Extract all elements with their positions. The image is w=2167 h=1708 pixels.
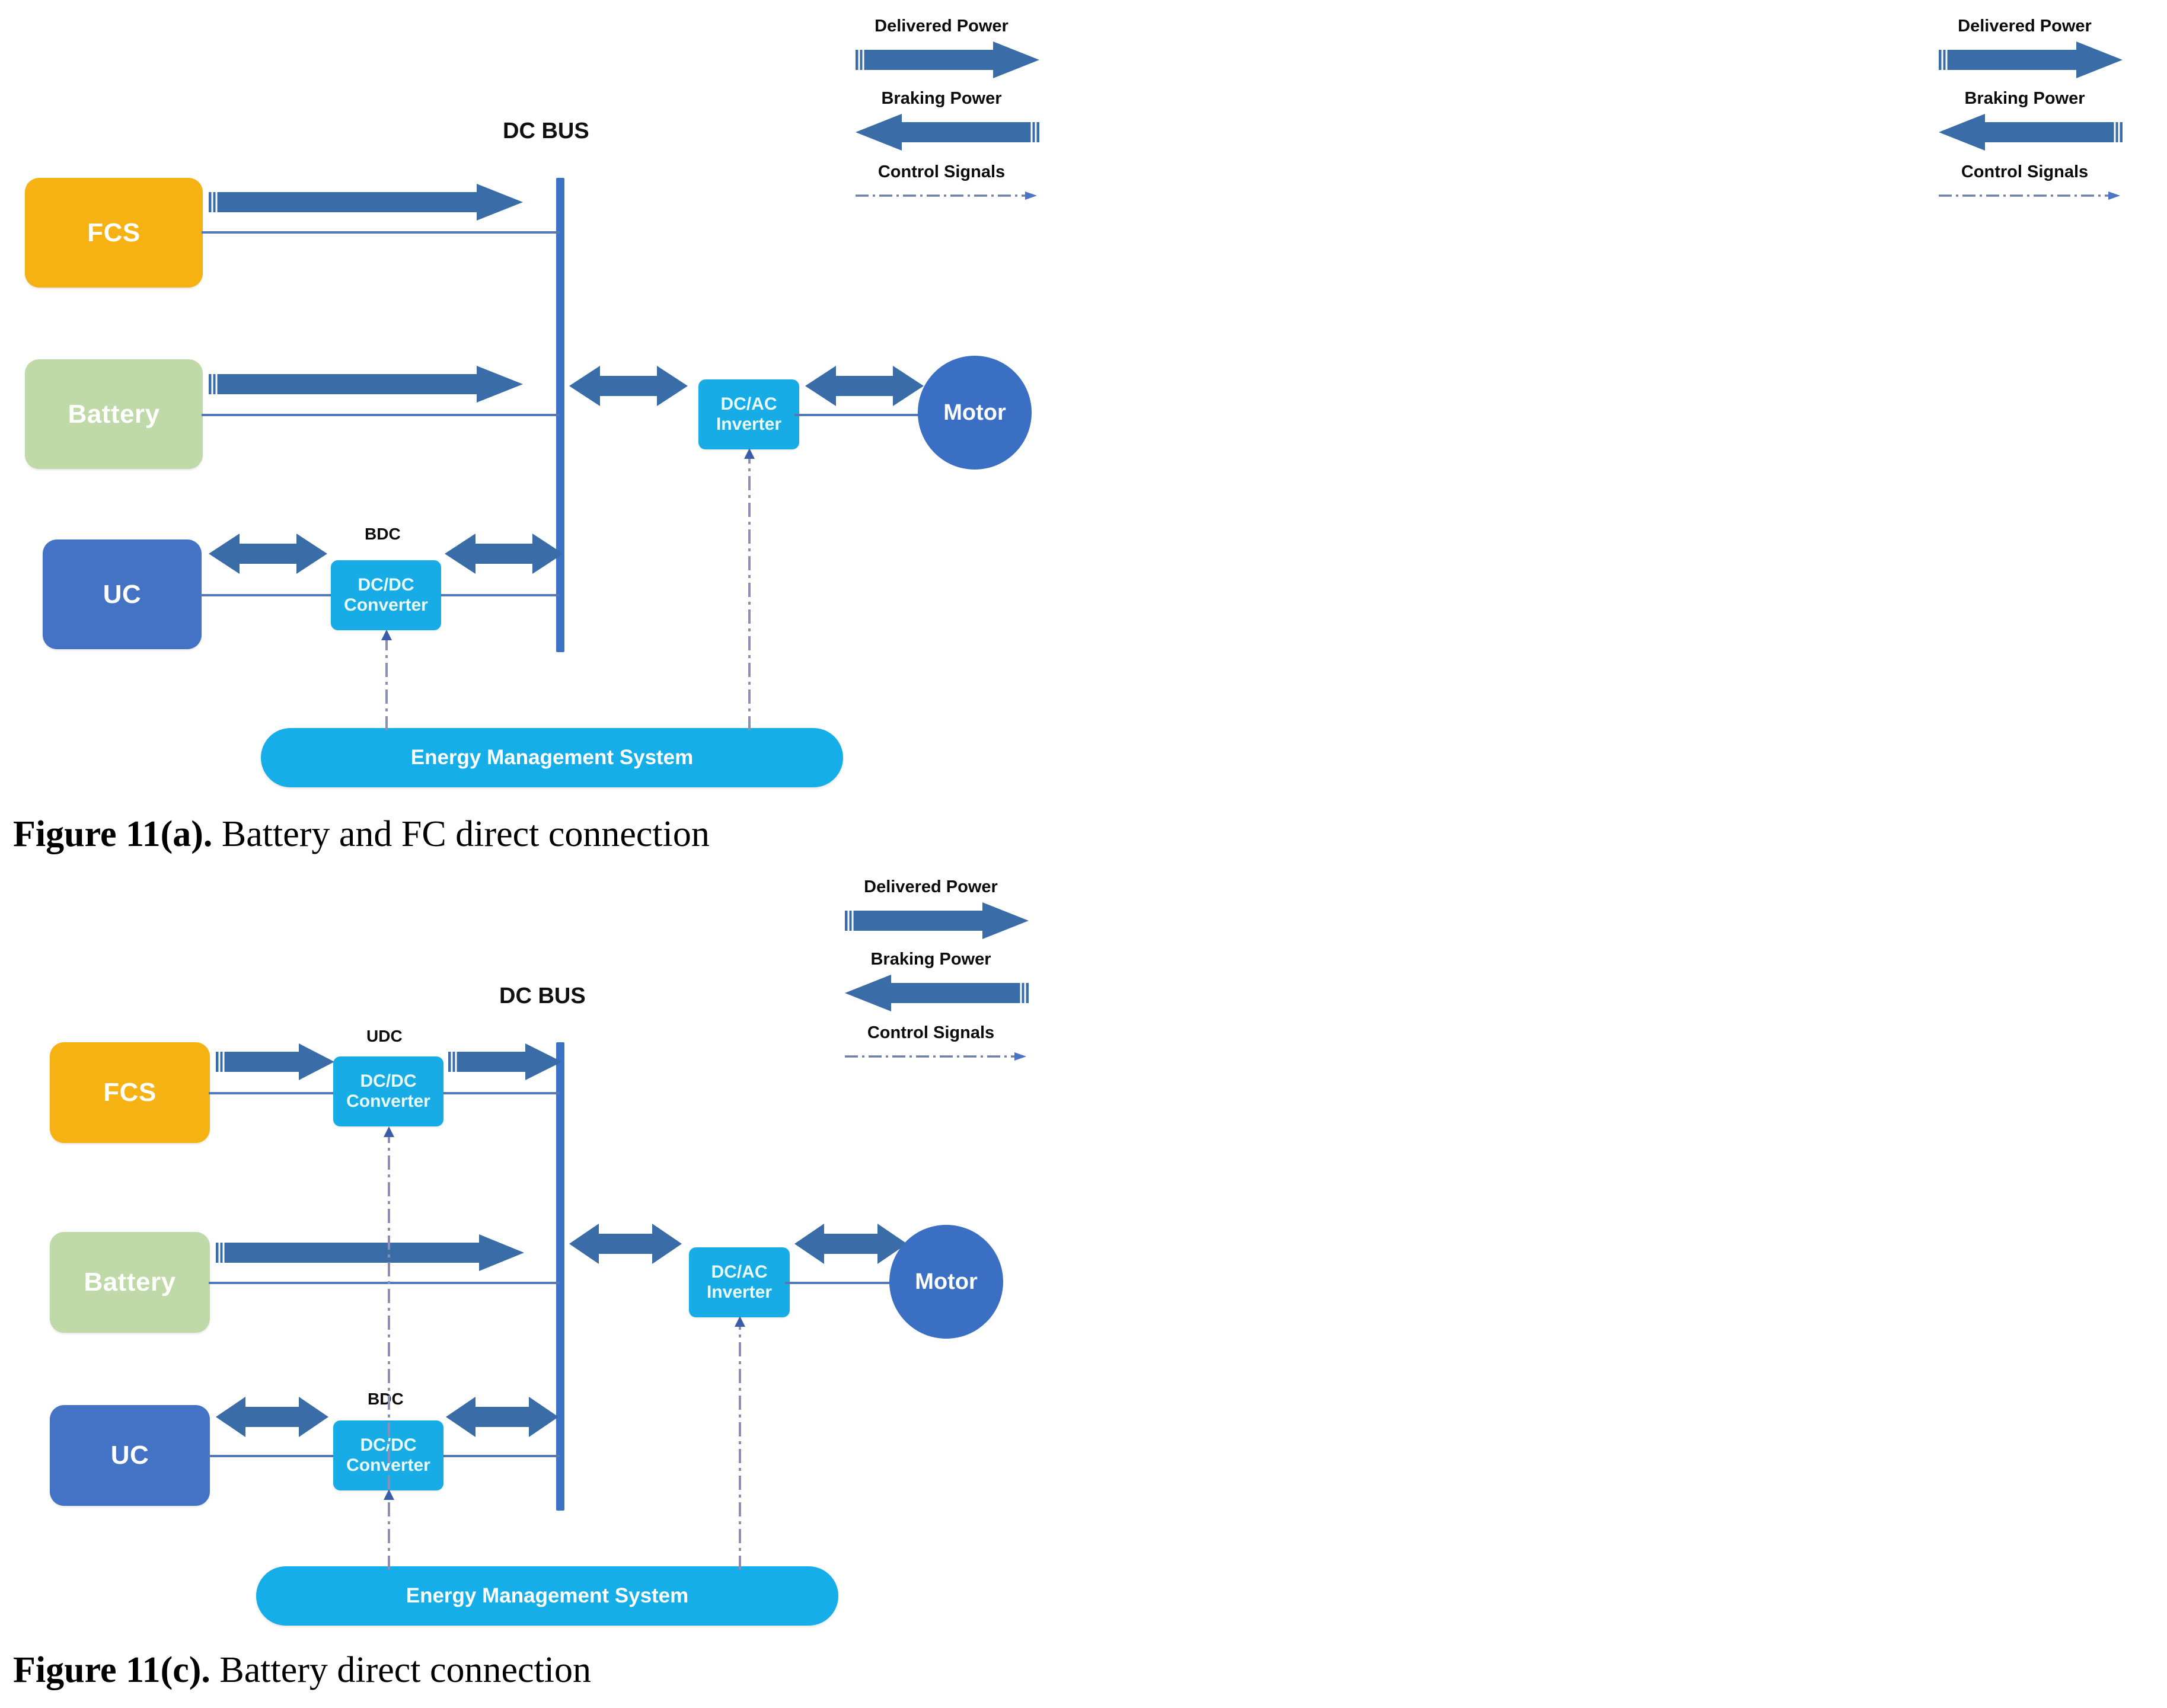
- motor-label-c: Motor: [915, 1269, 978, 1295]
- legend-delivered-power-label: Delivered Power: [841, 17, 1042, 36]
- legend-braking-power-arrow: [856, 114, 1039, 151]
- legend-control-signals-label: Control Signals: [841, 162, 1042, 182]
- legend-b: Delivered Power Braking Power Control Si…: [1924, 17, 2149, 212]
- legend-control-signals-label-c: Control Signals: [830, 1023, 1032, 1043]
- source-block-fcs-c[interactable]: FCS: [50, 1042, 210, 1143]
- control-signal-ems-to-converter-a: [374, 630, 400, 730]
- legend-delivered-power-arrow-c: [845, 902, 1029, 939]
- source-label-battery-c: Battery: [84, 1268, 175, 1297]
- converter-tag-udc-c: UDC: [366, 1027, 403, 1046]
- legend-c: Delivered Power Braking Power Control Si…: [830, 877, 1055, 1073]
- caption-c-prefix: Figure 11(c).: [13, 1650, 210, 1690]
- legend-delivered-power-label-b: Delivered Power: [1924, 17, 2125, 36]
- source-block-uc-c[interactable]: UC: [50, 1405, 210, 1506]
- inverter-dcac-a[interactable]: DC/AC Inverter: [698, 379, 799, 449]
- motor-label-a: Motor: [943, 400, 1006, 426]
- source-label-battery-a: Battery: [68, 400, 159, 429]
- source-block-battery-a[interactable]: Battery: [25, 359, 203, 469]
- wire-inverter-motor-c: [785, 1282, 898, 1284]
- control-signal-ems-to-inverter-c: [727, 1316, 753, 1570]
- legend-delivered-power-label-c: Delivered Power: [830, 877, 1032, 897]
- ems-a[interactable]: Energy Management System: [261, 728, 843, 787]
- converter-line1-c-fcs: DC/DC: [360, 1071, 417, 1091]
- converter-dcdc-fcs-c[interactable]: DC/DC Converter: [333, 1056, 443, 1126]
- inverter-line1-a: DC/AC: [721, 394, 777, 414]
- power-arrow-fcs-right-c: [448, 1043, 562, 1080]
- source-block-uc-a[interactable]: UC: [43, 539, 202, 649]
- power-arrow-uc-right-c: [446, 1397, 558, 1437]
- panel-a: Delivered Power Braking Power Control Si…: [0, 0, 1085, 830]
- converter-line2-c-fcs: Converter: [346, 1091, 430, 1112]
- source-block-battery-c[interactable]: Battery: [50, 1232, 210, 1333]
- legend-braking-power-label-b: Braking Power: [1924, 89, 2125, 108]
- legend-control-signals-line: [856, 190, 1039, 202]
- caption-c: Figure 11(c). Battery direct connection: [13, 1649, 591, 1691]
- legend-braking-power-label-c: Braking Power: [830, 950, 1032, 969]
- control-signal-ems-to-bdc-c: [376, 1489, 402, 1570]
- source-label-fcs-c: FCS: [103, 1078, 157, 1107]
- power-arrow-fcs-left-c: [216, 1043, 334, 1080]
- converter-line1-a-uc: DC/DC: [358, 575, 414, 595]
- converter-tag-bdc-a: BDC: [365, 525, 401, 544]
- converter-dcdc-uc-a[interactable]: DC/DC Converter: [331, 560, 441, 630]
- dc-bus-c: [556, 1042, 564, 1511]
- power-arrow-uc-right-a: [445, 534, 563, 574]
- wire-inverter-motor-a: [794, 414, 931, 416]
- legend-braking-power-label: Braking Power: [841, 89, 1042, 108]
- inverter-line2-a: Inverter: [716, 414, 781, 435]
- legend-control-signals-line-c: [845, 1051, 1029, 1062]
- legend-delivered-power-arrow-b: [1939, 41, 2123, 78]
- source-block-fcs-a[interactable]: FCS: [25, 178, 203, 288]
- caption-a-prefix: Figure 11(a).: [13, 814, 212, 854]
- bus-label-c: DC BUS: [493, 981, 592, 1011]
- bus-label-a: DC BUS: [497, 116, 595, 146]
- inverter-dcac-c[interactable]: DC/AC Inverter: [689, 1247, 790, 1317]
- power-arrow-battery-a: [209, 366, 523, 403]
- source-label-fcs-a: FCS: [87, 218, 141, 248]
- power-arrow-inverter-motor-c: [794, 1224, 907, 1264]
- legend-control-signals-line-b: [1939, 190, 2123, 202]
- inverter-line1-c: DC/AC: [711, 1262, 768, 1282]
- power-arrow-uc-left-c: [216, 1397, 328, 1437]
- converter-line2-a-uc: Converter: [344, 595, 428, 615]
- ems-label-c: Energy Management System: [406, 1584, 689, 1608]
- caption-a: Figure 11(a). Battery and FC direct conn…: [13, 813, 710, 855]
- panel-c: Delivered Power Braking Power Control Si…: [0, 866, 1085, 1707]
- ems-label-a: Energy Management System: [411, 746, 694, 770]
- power-arrow-battery-c: [216, 1234, 524, 1271]
- motor-a[interactable]: Motor: [918, 356, 1032, 470]
- power-arrow-uc-left-a: [209, 534, 327, 574]
- wire-fcs-bus-a: [202, 231, 560, 234]
- inverter-line2-c: Inverter: [707, 1282, 772, 1302]
- legend-braking-power-arrow-b: [1939, 114, 2123, 151]
- source-label-uc-a: UC: [103, 580, 142, 609]
- caption-c-text: Battery direct connection: [210, 1650, 591, 1690]
- legend-braking-power-arrow-c: [845, 975, 1029, 1011]
- legend-a: Delivered Power Braking Power Control Si…: [841, 17, 1066, 212]
- legend-control-signals-label-b: Control Signals: [1924, 162, 2125, 182]
- power-arrow-bus-inverter-a: [569, 366, 688, 406]
- caption-a-text: Battery and FC direct connection: [212, 814, 709, 854]
- power-arrow-bus-inverter-c: [569, 1224, 682, 1264]
- power-arrow-fcs-a: [209, 184, 523, 221]
- power-arrow-inverter-motor-a: [805, 366, 924, 406]
- control-signal-ems-to-inverter-a: [736, 448, 762, 730]
- motor-c[interactable]: Motor: [889, 1225, 1003, 1339]
- source-label-uc-c: UC: [111, 1441, 149, 1470]
- legend-delivered-power-arrow: [856, 41, 1039, 78]
- wire-battery-bus-a: [202, 414, 560, 416]
- ems-c[interactable]: Energy Management System: [256, 1566, 838, 1626]
- panel-b: Delivered Power Braking Power Control Si…: [1085, 0, 2167, 830]
